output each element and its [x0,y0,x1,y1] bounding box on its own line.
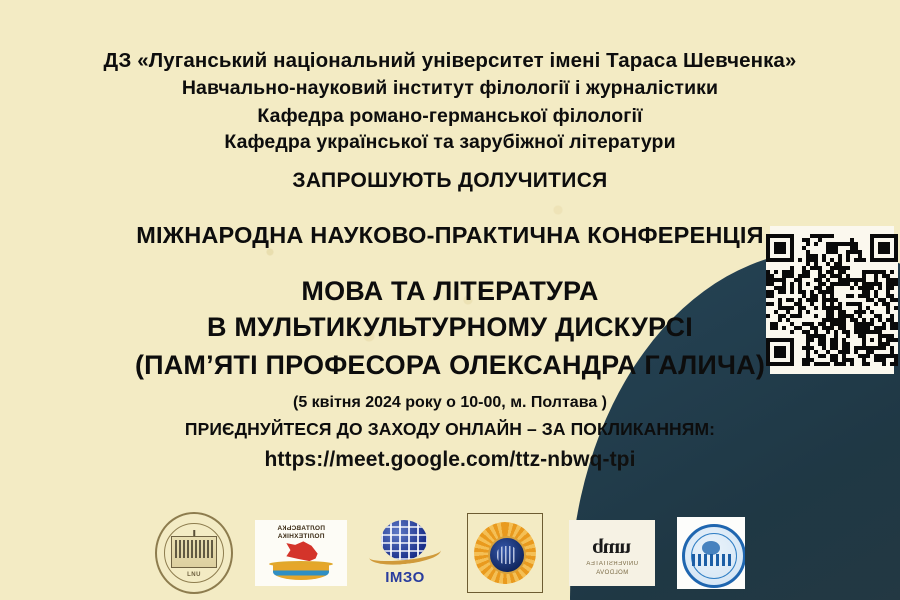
invitation-text: ЗАПРОШУЮТЬ ДОЛУЧИТИСЯ [0,169,900,193]
logo-lnu-seal: LNU [155,512,233,594]
join-instruction-text: ПРИЄДНУЙТЕСЯ ДО ЗАХОДУ ОНЛАЙН – ЗА ПОКЛИ… [0,419,900,440]
seal-building-icon [175,540,213,558]
swoosh-icon [368,540,442,567]
logo-blue-ring [677,517,745,589]
conference-title-line-3: (ПАМ’ЯТІ ПРОФЕСОРА ОЛЕКСАНДРА ГАЛИЧА) [0,350,900,381]
conference-title-line-1: МОВА ТА ЛІТЕРАТУРА [0,276,900,307]
conference-poster: ДЗ «Луганський національний університет … [0,0,900,600]
seal-caption: LNU [157,572,231,578]
meet-link-text[interactable]: https://meet.google.com/ttz-nbwq-tpi [0,448,900,472]
logo-base-band [273,564,329,580]
bird-logo-arc-text: ПОЛТАВСЬКА ПОЛІТЕХНІКА [261,525,341,545]
imzo-label: ІМЗО [369,569,441,586]
event-type-text: МІЖНАРОДНА НАУКОВО-ПРАКТИЧНА КОНФЕРЕНЦІЯ [0,222,900,249]
umb-subtext: UNIVERSITATEA MOLDOVA [569,560,655,578]
organization-line-4: Кафедра української та зарубіжної літера… [0,133,900,153]
qr-code-canvas [766,234,898,366]
organization-line-3: Кафедра романо-германської філології [0,107,900,127]
qr-code[interactable] [770,226,894,374]
organization-line-1: ДЗ «Луганський національний університет … [0,51,900,72]
conference-title-line-2: В МУЛЬТИКУЛЬТУРНОМУ ДИСКУРСІ [0,312,900,343]
logo-poltava-bird: ПОЛТАВСЬКА ПОЛІТЕХНІКА [255,520,347,586]
event-details-text: (5 квітня 2024 року о 10-00, м. Полтава … [0,394,900,412]
umb-wordmark: umb [569,534,655,559]
partner-logos-row: LNU ПОЛТАВСЬКА ПОЛІТЕХНІКА ІМЗО [0,506,900,600]
ring-text-bars [691,554,731,566]
emblem-center-icon [488,536,526,574]
logo-umb: umb UNIVERSITATEA MOLDOVA [569,520,655,586]
organization-line-2: Навчально-науковий інститут філології і … [0,79,900,99]
logo-imzo: ІМЗО [369,518,441,588]
logo-ornate-emblem [463,509,547,597]
